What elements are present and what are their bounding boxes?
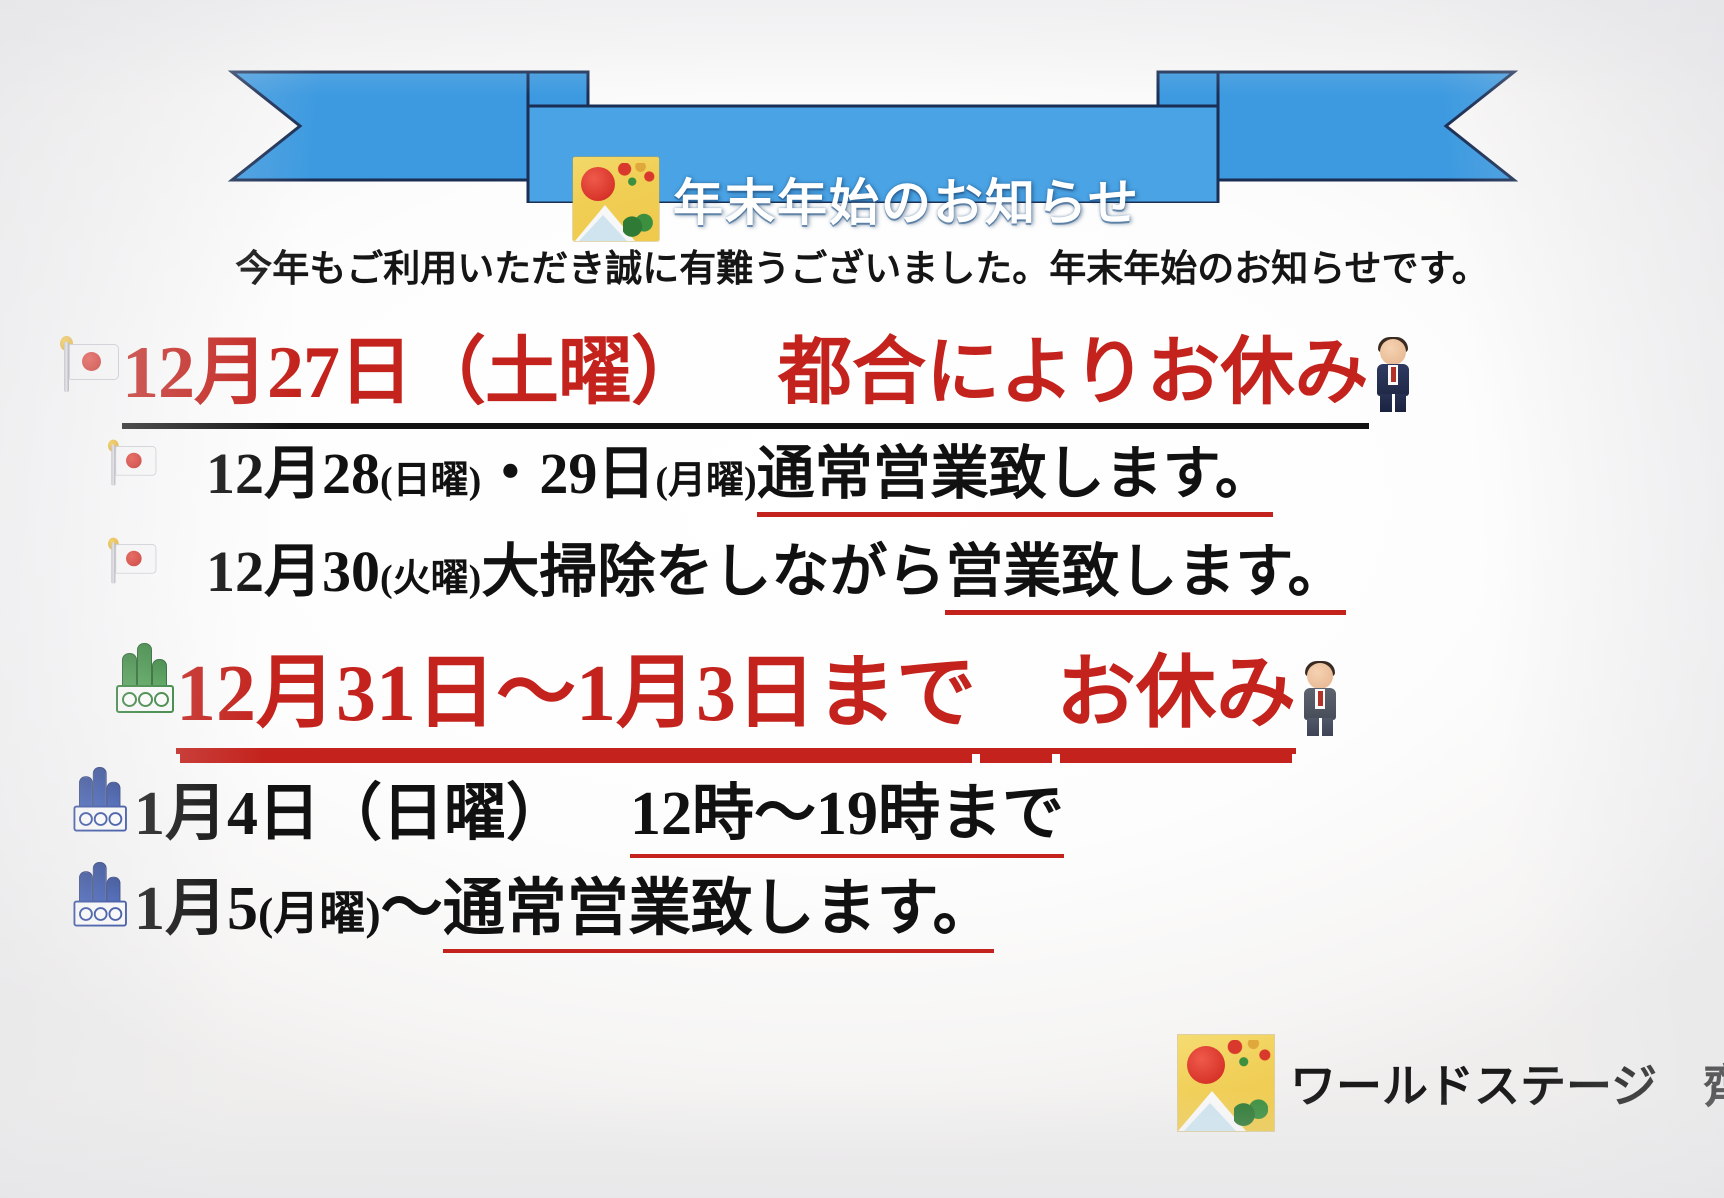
dec30-status-prefix: 大掃除をしながら <box>481 524 945 608</box>
japanese-flag-icon <box>60 328 122 413</box>
dec27-status: 都合によりお休み <box>778 312 1369 429</box>
dec30-date-main: 12月30 <box>206 524 380 608</box>
schedule-row-newyear-holiday: 12月31日～1月3日まで お休み <box>110 628 1344 754</box>
kadomatsu-green-icon <box>110 645 176 737</box>
schedule-row-jan5: 1月5 (月曜) ～ 通常営業致します。 <box>68 857 994 953</box>
signature-spacer <box>1657 1061 1703 1112</box>
banner-ribbon: 年末年始のお知らせ <box>228 58 1518 203</box>
dec30-status: 営業致します。 <box>945 524 1345 615</box>
dec2829-weekday-2: (月曜) <box>655 449 756 504</box>
jan5-arrow: ～ <box>381 857 443 947</box>
poster-page: 年末年始のお知らせ 今年もご利用いただき誠に有難うございました。年末年始のお知ら… <box>0 0 1724 1198</box>
standing-person-icon <box>1369 328 1417 413</box>
new-year-illustration-icon <box>1178 1035 1274 1131</box>
kadomatsu-blue-icon <box>68 766 134 854</box>
dec2829-date-main: 12月28 <box>206 426 380 510</box>
signature-company: ワールドステージ <box>1290 1061 1657 1112</box>
dec27-date: 12月27日（土曜） <box>122 312 704 429</box>
dec2829-separator: ・ <box>481 426 539 510</box>
schedule-row-dec27: 12月27日（土曜） 都合によりお休み <box>60 312 1417 429</box>
dec2829-weekday-1: (日曜) <box>380 449 481 504</box>
newyear-holiday-status: お休み <box>1056 628 1296 754</box>
schedule-row-dec2829: 12月28 (日曜) ・ 29日 (月曜) 通常営業致します。 <box>108 426 1273 517</box>
jan4-gap <box>568 762 630 852</box>
schedule-row-dec30: 12月30 (火曜) 大掃除をしながら 営業致します。 <box>108 524 1346 615</box>
newyear-holiday-date: 12月31日～1月3日まで <box>176 628 976 754</box>
dec30-weekday-1: (火曜) <box>380 547 481 602</box>
jan4-status: 12時～19時まで <box>630 762 1064 858</box>
jan5-weekday-1: (月曜) <box>258 877 381 943</box>
signature-block: ワールドステージ 齊藤 <box>1178 1035 1724 1131</box>
jan5-status: 通常営業致します。 <box>443 857 995 953</box>
dec2829-status: 通常営業致します。 <box>757 426 1273 517</box>
banner-title: 年末年始のお知らせ <box>673 163 1140 235</box>
schedule-row-jan4: 1月4日（日曜） 12時～19時まで <box>68 762 1064 858</box>
standing-person-icon <box>1296 646 1344 737</box>
jan4-date: 1月4日（日曜） <box>134 762 568 852</box>
subtitle-text: 今年もご利用いただき誠に有難うございました。年末年始のお知らせです。 <box>0 238 1724 292</box>
dec2829-date-main-2: 29日 <box>539 426 655 510</box>
signature-text: ワールドステージ 齊藤 <box>1290 1050 1724 1116</box>
dec27-gap <box>704 312 778 429</box>
japanese-flag-icon <box>108 438 170 506</box>
jan5-date-main: 1月5 <box>134 857 258 947</box>
signature-name: 齊藤 <box>1703 1061 1724 1112</box>
new-year-illustration-icon <box>573 157 659 241</box>
kadomatsu-blue-icon <box>68 861 134 949</box>
newyear-holiday-gap <box>976 628 1056 754</box>
japanese-flag-icon <box>108 536 170 604</box>
